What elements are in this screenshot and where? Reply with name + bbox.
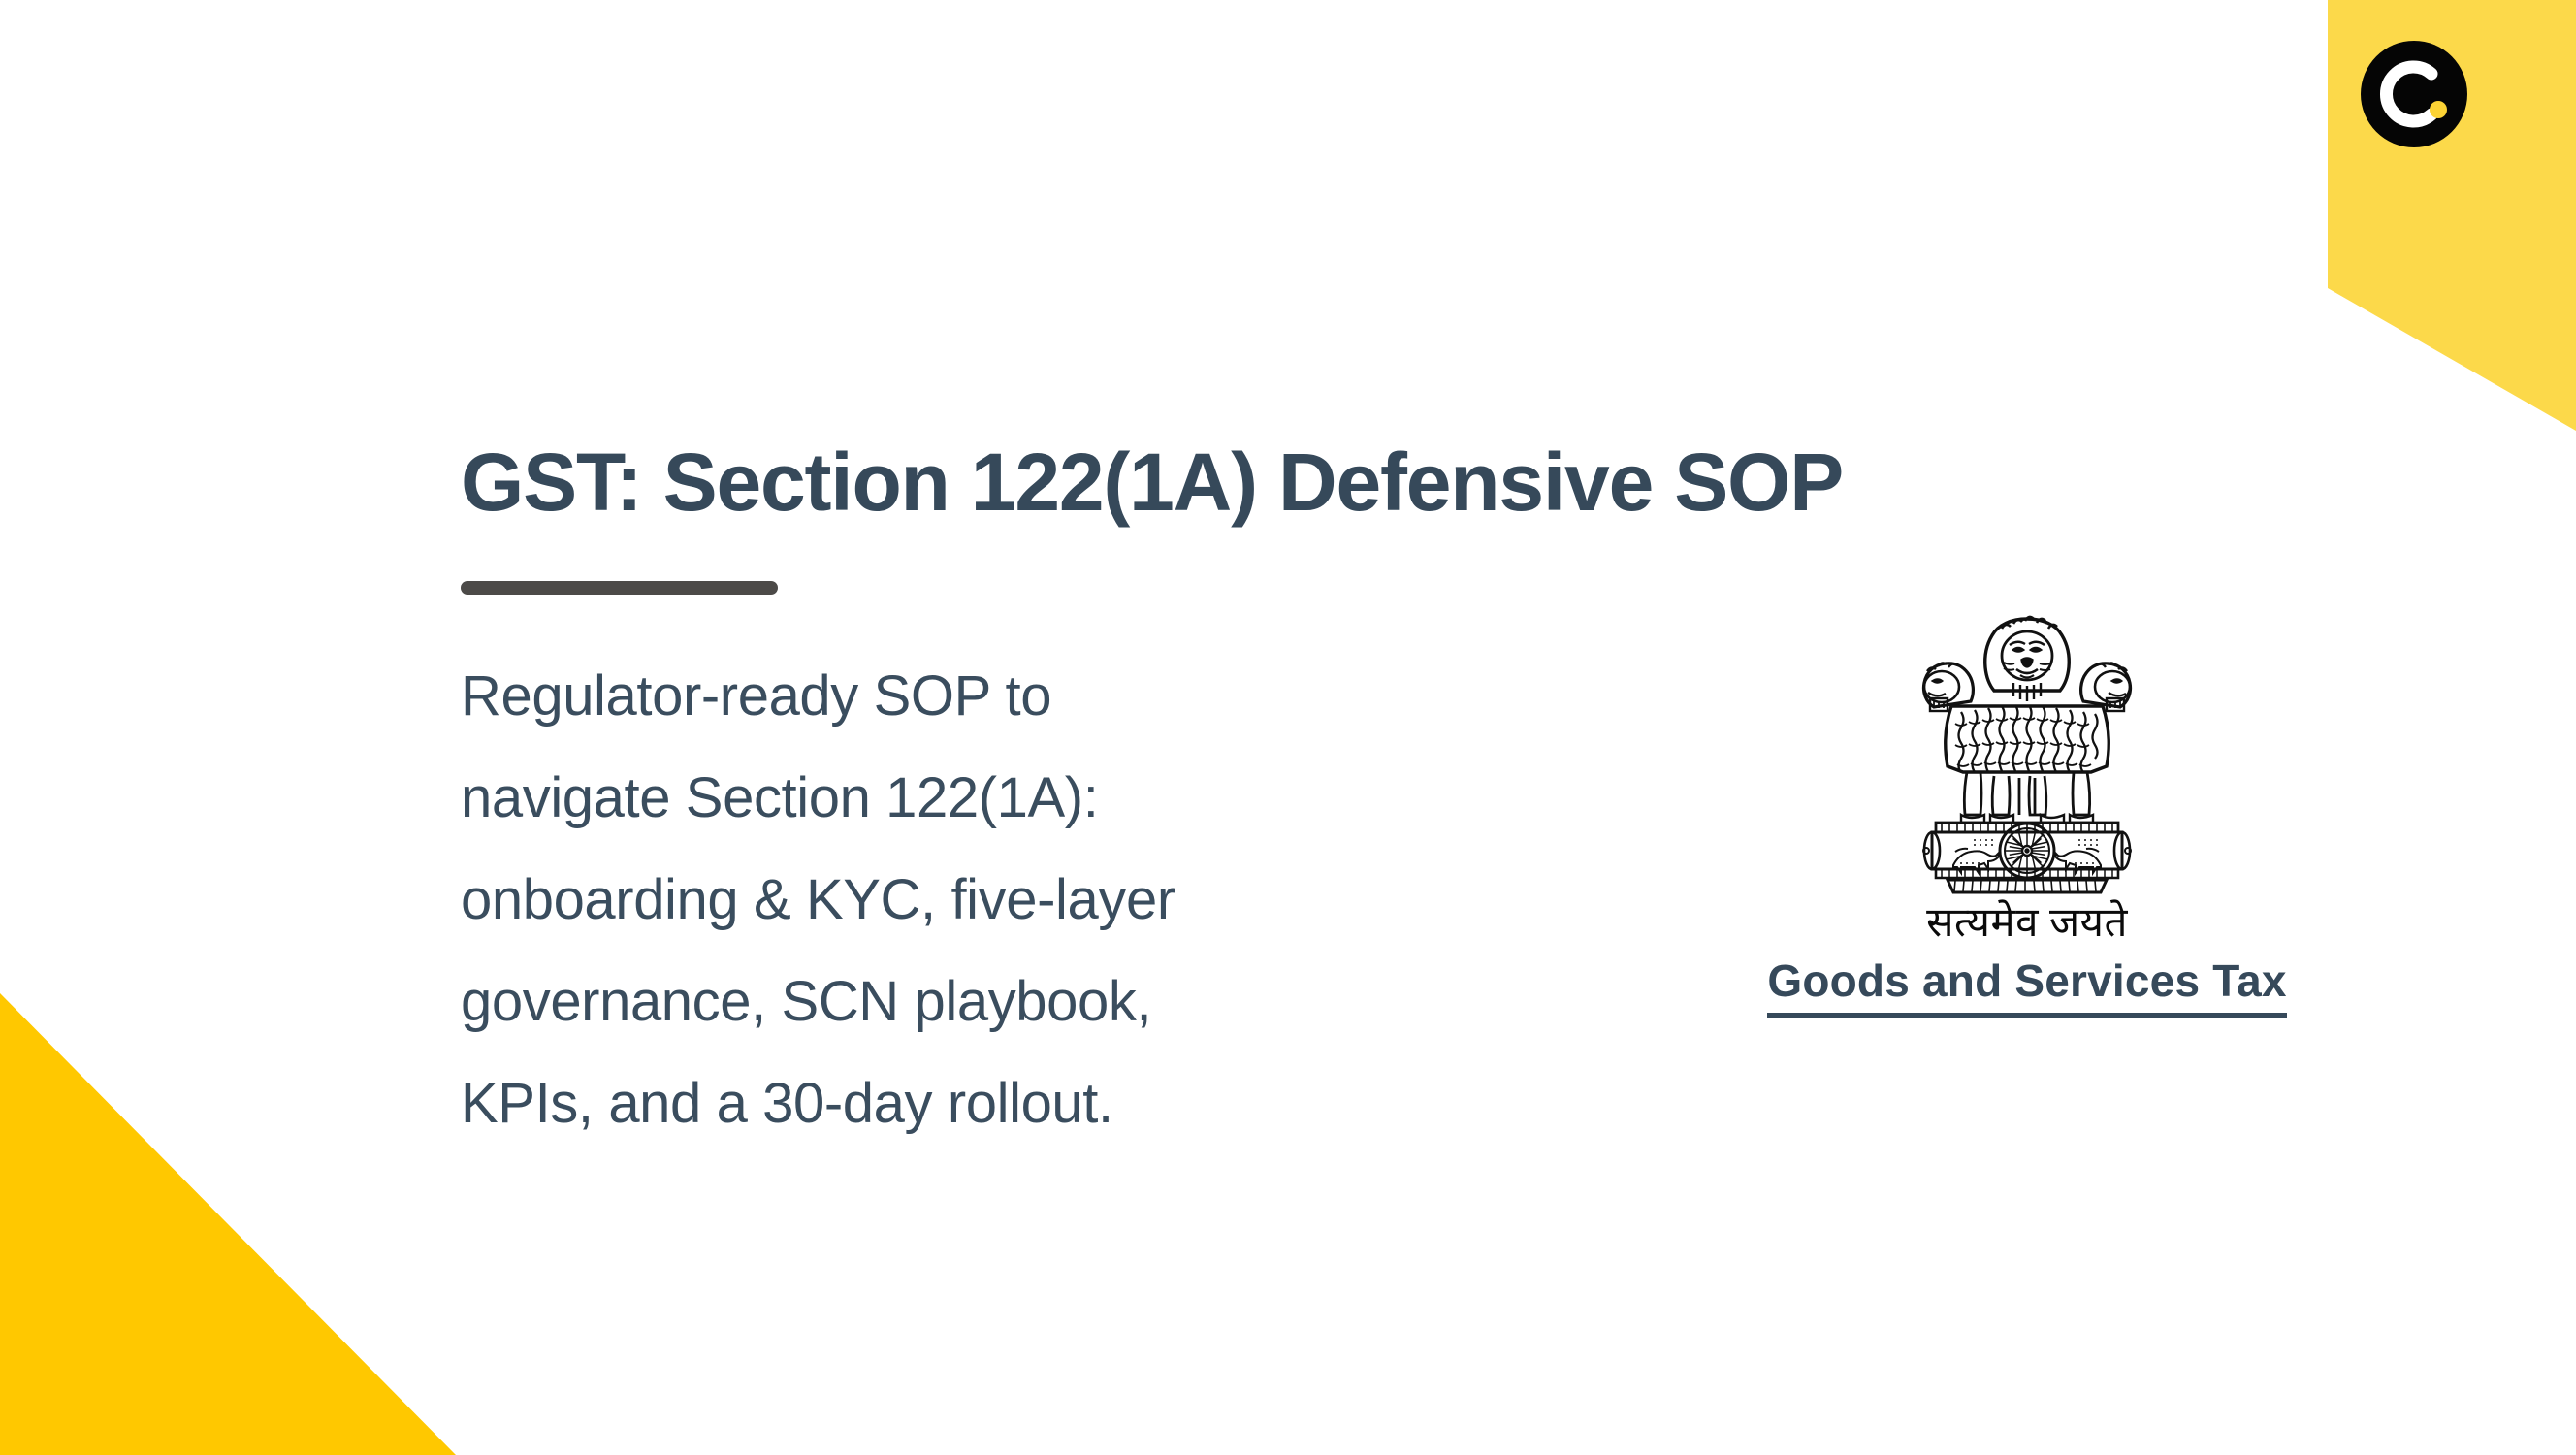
emblem-caption-wrap: Goods and Services Tax	[1658, 945, 2396, 1018]
presentation-slide: GST: Section 122(1A) Defensive SOP Regul…	[0, 0, 2576, 1455]
gst-emblem-block: सत्यमेव जयते Goods and Services Tax	[1658, 609, 2396, 1018]
title-divider-rule	[461, 581, 778, 595]
state-emblem-of-india-icon	[1893, 609, 2161, 900]
slide-content: GST: Section 122(1A) Defensive SOP Regul…	[461, 441, 1634, 1154]
emblem-motto: सत्यमेव जयते	[1658, 902, 2396, 945]
page-title: GST: Section 122(1A) Defensive SOP	[461, 441, 1634, 525]
emblem-caption: Goods and Services Tax	[1767, 954, 2286, 1018]
bottom-left-yellow-triangle	[0, 993, 456, 1455]
slide-subtitle: Regulator-ready SOP to navigate Section …	[461, 645, 1198, 1154]
brand-logo-icon	[2361, 41, 2467, 147]
brand-logo[interactable]	[2361, 41, 2467, 147]
